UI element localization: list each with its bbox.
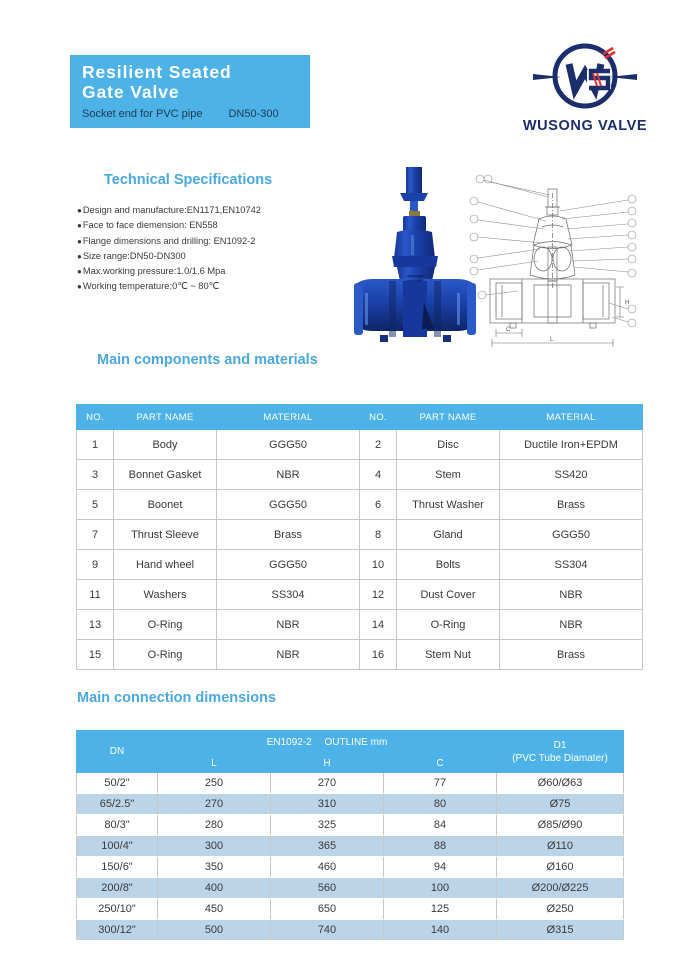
- logo-wordmark: WUSONG VALVE: [505, 118, 665, 134]
- cell-material: NBR: [217, 460, 360, 490]
- cell-part: Gland: [397, 520, 500, 550]
- table-header-row-group: DN EN1092-2 OUTLINE mm D1 (PVC Tube Diam…: [77, 731, 624, 754]
- product-subtitle-text: Socket end for PVC pipe: [82, 108, 202, 120]
- cell-h: 365: [271, 836, 384, 857]
- table-row: 7 Thrust Sleeve Brass 8 Gland GGG50: [77, 520, 643, 550]
- cell-no: 9: [77, 550, 114, 580]
- cell-dn: 65/2.5": [77, 794, 158, 815]
- cell-part: Washers: [114, 580, 217, 610]
- cell-l: 270: [158, 794, 271, 815]
- cell-part: Dust Cover: [397, 580, 500, 610]
- cell-no: 5: [77, 490, 114, 520]
- cell-material: NBR: [217, 640, 360, 670]
- cell-l: 280: [158, 815, 271, 836]
- cell-dn: 80/3": [77, 815, 158, 836]
- cell-material: NBR: [217, 610, 360, 640]
- logo-mark-icon: [531, 42, 639, 114]
- cell-l: 400: [158, 878, 271, 899]
- product-title-line-1: Resilient Seated: [82, 62, 310, 82]
- cell-material: Ductile Iron+EPDM: [500, 430, 643, 460]
- cell-h: 270: [271, 773, 384, 794]
- cell-no: 16: [360, 640, 397, 670]
- list-item: ●Working temperature:0℃ ~ 80℃: [77, 279, 347, 294]
- cell-c: 140: [384, 920, 497, 941]
- cell-part: Stem: [397, 460, 500, 490]
- technical-section-drawing: C L H: [462, 167, 642, 352]
- cell-h: 740: [271, 920, 384, 941]
- cell-part: Thrust Sleeve: [114, 520, 217, 550]
- spec-text: Design and manufacture:EN1171,EN10742: [83, 205, 261, 215]
- cell-no: 13: [77, 610, 114, 640]
- table-row: 1 Body GGG50 2 Disc Ductile Iron+EPDM: [77, 430, 643, 460]
- components-materials-table: NO. PART NAME MATERIAL NO. PART NAME MAT…: [76, 404, 643, 670]
- product-size-range: DN50-300: [228, 108, 278, 120]
- column-header-part-left: PART NAME: [114, 405, 217, 430]
- column-header-c: C: [384, 754, 497, 773]
- cell-dn: 150/6": [77, 857, 158, 878]
- table-row: 3 Bonnet Gasket NBR 4 Stem SS420: [77, 460, 643, 490]
- cell-material: GGG50: [217, 430, 360, 460]
- column-header-dn: DN: [77, 731, 158, 773]
- table-body: 1 Body GGG50 2 Disc Ductile Iron+EPDM 3 …: [77, 430, 643, 670]
- cell-part: Body: [114, 430, 217, 460]
- cell-material: GGG50: [217, 490, 360, 520]
- cell-material: SS304: [217, 580, 360, 610]
- cell-no: 14: [360, 610, 397, 640]
- cell-c: 80: [384, 794, 497, 815]
- cell-material: GGG50: [217, 550, 360, 580]
- list-item: ●Design and manufacture:EN1171,EN10742: [77, 203, 347, 218]
- main-components-heading: Main components and materials: [97, 352, 318, 368]
- cell-part: Disc: [397, 430, 500, 460]
- cell-d1: Ø200/Ø225: [497, 878, 624, 899]
- cell-l: 350: [158, 857, 271, 878]
- cell-material: SS420: [500, 460, 643, 490]
- table-row: 100/4" 300 365 88 Ø110: [77, 836, 624, 857]
- cell-no: 10: [360, 550, 397, 580]
- table-row: 15 O-Ring NBR 16 Stem Nut Brass: [77, 640, 643, 670]
- page-header: Resilient Seated Gate Valve Socket end f…: [0, 0, 700, 150]
- technical-specifications-heading: Technical Specifications: [104, 172, 272, 188]
- column-header-h: H: [271, 754, 384, 773]
- spec-text: Working temperature:0℃ ~ 80℃: [83, 281, 219, 291]
- bullet-icon: ●: [77, 221, 82, 230]
- cell-dn: 200/8": [77, 878, 158, 899]
- bullet-icon: ●: [77, 206, 82, 215]
- spec-text: Size range:DN50-DN300: [83, 251, 186, 261]
- column-header-material-right: MATERIAL: [500, 405, 643, 430]
- cell-no: 3: [77, 460, 114, 490]
- cell-material: NBR: [500, 580, 643, 610]
- cell-dn: 100/4": [77, 836, 158, 857]
- cell-c: 125: [384, 899, 497, 920]
- cell-part: O-Ring: [114, 640, 217, 670]
- cell-part: Stem Nut: [397, 640, 500, 670]
- cell-part: Bolts: [397, 550, 500, 580]
- column-header-no-right: NO.: [360, 405, 397, 430]
- dimension-label-l: L: [550, 337, 554, 343]
- cell-no: 11: [77, 580, 114, 610]
- table-body: 50/2" 250 270 77 Ø60/Ø63 65/2.5" 270 310…: [77, 773, 624, 941]
- list-item: ●Face to face diemension: EN558: [77, 218, 347, 233]
- cell-material: NBR: [500, 610, 643, 640]
- cell-d1: Ø85/Ø90: [497, 815, 624, 836]
- cell-d1: Ø160: [497, 857, 624, 878]
- table-row: 200/8" 400 560 100 Ø200/Ø225: [77, 878, 624, 899]
- dimension-label-h: H: [625, 300, 629, 306]
- product-title-banner: Resilient Seated Gate Valve Socket end f…: [70, 55, 310, 128]
- product-title-line-2: Gate Valve: [82, 82, 310, 102]
- cell-h: 460: [271, 857, 384, 878]
- cell-c: 100: [384, 878, 497, 899]
- column-header-material-left: MATERIAL: [217, 405, 360, 430]
- cell-c: 77: [384, 773, 497, 794]
- column-header-d1: D1 (PVC Tube Diamater): [497, 731, 624, 773]
- cell-material: GGG50: [500, 520, 643, 550]
- cell-l: 300: [158, 836, 271, 857]
- column-header-d1-line2: (PVC Tube Diamater): [498, 752, 622, 765]
- connection-dimensions-table: DN EN1092-2 OUTLINE mm D1 (PVC Tube Diam…: [76, 730, 624, 941]
- cell-h: 325: [271, 815, 384, 836]
- cell-no: 6: [360, 490, 397, 520]
- cell-h: 560: [271, 878, 384, 899]
- company-logo: WUSONG VALVE: [505, 42, 665, 147]
- column-header-no-left: NO.: [77, 405, 114, 430]
- cell-part: O-Ring: [397, 610, 500, 640]
- bullet-icon: ●: [77, 267, 82, 276]
- table-header: NO. PART NAME MATERIAL NO. PART NAME MAT…: [77, 405, 643, 430]
- cell-dn: 50/2": [77, 773, 158, 794]
- spec-text: Face to face diemension: EN558: [83, 220, 218, 230]
- table-row: 65/2.5" 270 310 80 Ø75: [77, 794, 624, 815]
- cell-part: Boonet: [114, 490, 217, 520]
- cell-l: 450: [158, 899, 271, 920]
- cell-no: 8: [360, 520, 397, 550]
- cell-c: 88: [384, 836, 497, 857]
- column-header-l: L: [158, 754, 271, 773]
- bullet-icon: ●: [77, 252, 82, 261]
- cell-material: Brass: [500, 490, 643, 520]
- product-subtitle: Socket end for PVC pipeDN50-300: [82, 107, 310, 121]
- bullet-icon: ●: [77, 237, 82, 246]
- table-row: 50/2" 250 270 77 Ø60/Ø63: [77, 773, 624, 794]
- main-connection-dimensions-heading: Main connection dimensions: [77, 690, 276, 706]
- table-row: 300/12" 500 740 140 Ø315: [77, 920, 624, 941]
- spec-text: Flange dimensions and drilling: EN1092-2: [83, 236, 256, 246]
- cell-part: O-Ring: [114, 610, 217, 640]
- table-row: 150/6" 350 460 94 Ø160: [77, 857, 624, 878]
- bullet-icon: ●: [77, 282, 82, 291]
- table-header: DN EN1092-2 OUTLINE mm D1 (PVC Tube Diam…: [77, 731, 624, 773]
- column-header-part-right: PART NAME: [397, 405, 500, 430]
- cell-no: 2: [360, 430, 397, 460]
- cell-material: Brass: [500, 640, 643, 670]
- cell-no: 1: [77, 430, 114, 460]
- column-header-outline-group: EN1092-2 OUTLINE mm: [158, 731, 497, 754]
- cell-part: Hand wheel: [114, 550, 217, 580]
- cell-material: SS304: [500, 550, 643, 580]
- cell-no: 12: [360, 580, 397, 610]
- table-header-row: NO. PART NAME MATERIAL NO. PART NAME MAT…: [77, 405, 643, 430]
- technical-specifications-list: ●Design and manufacture:EN1171,EN10742 ●…: [77, 203, 347, 295]
- list-item: ●Size range:DN50-DN300: [77, 249, 347, 264]
- cell-no: 15: [77, 640, 114, 670]
- cell-no: 4: [360, 460, 397, 490]
- cell-l: 500: [158, 920, 271, 941]
- dimension-label-c: C: [506, 327, 511, 333]
- cell-no: 7: [77, 520, 114, 550]
- cell-material: Brass: [217, 520, 360, 550]
- cell-d1: Ø60/Ø63: [497, 773, 624, 794]
- cell-h: 310: [271, 794, 384, 815]
- cell-d1: Ø75: [497, 794, 624, 815]
- cell-c: 84: [384, 815, 497, 836]
- cell-h: 650: [271, 899, 384, 920]
- table-row: 13 O-Ring NBR 14 O-Ring NBR: [77, 610, 643, 640]
- cell-part: Bonnet Gasket: [114, 460, 217, 490]
- table-row: 250/10" 450 650 125 Ø250: [77, 899, 624, 920]
- cell-d1: Ø250: [497, 899, 624, 920]
- cell-part: Thrust Washer: [397, 490, 500, 520]
- cell-dn: 250/10": [77, 899, 158, 920]
- table-row: 5 Boonet GGG50 6 Thrust Washer Brass: [77, 490, 643, 520]
- cell-l: 250: [158, 773, 271, 794]
- table-row: 80/3" 280 325 84 Ø85/Ø90: [77, 815, 624, 836]
- cell-dn: 300/12": [77, 920, 158, 941]
- list-item: ●Flange dimensions and drilling: EN1092-…: [77, 234, 347, 249]
- cell-d1: Ø110: [497, 836, 624, 857]
- table-row: 11 Washers SS304 12 Dust Cover NBR: [77, 580, 643, 610]
- cell-d1: Ø315: [497, 920, 624, 941]
- spec-text: Max.working pressure:1.0/1.6 Mpa: [83, 266, 226, 276]
- table-row: 9 Hand wheel GGG50 10 Bolts SS304: [77, 550, 643, 580]
- column-header-d1-line1: D1: [498, 739, 622, 752]
- list-item: ●Max.working pressure:1.0/1.6 Mpa: [77, 264, 347, 279]
- cell-c: 94: [384, 857, 497, 878]
